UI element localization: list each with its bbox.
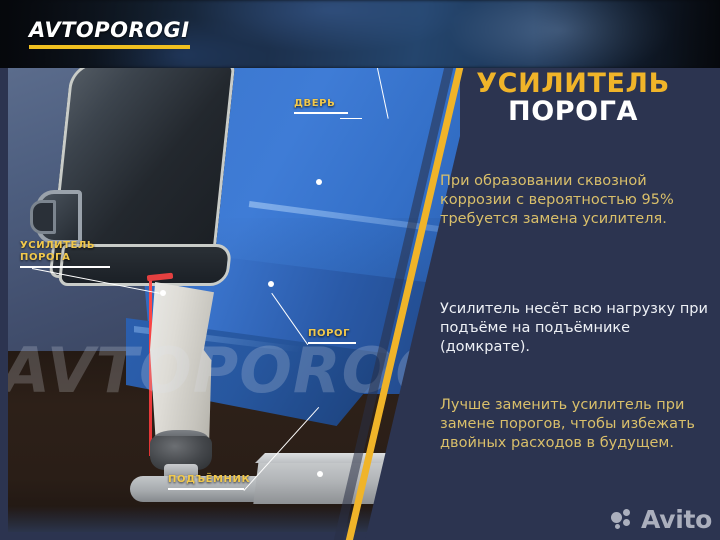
lift-beam bbox=[253, 460, 384, 504]
avito-dots-icon bbox=[611, 509, 637, 531]
callout-door-dot bbox=[316, 179, 322, 185]
callout-door: ДВЕРЬ bbox=[294, 98, 348, 114]
callout-door-leader-h bbox=[340, 118, 362, 119]
brand-logo-text: AVTOPOROGI bbox=[29, 20, 190, 41]
callout-reinforcement-label-2: ПОРОГА bbox=[20, 252, 110, 263]
page-title: УСИЛИТЕЛЬ ПОРОГА bbox=[440, 70, 706, 127]
callout-door-underline bbox=[294, 112, 348, 114]
page-title-line-2: ПОРОГА bbox=[440, 98, 706, 126]
cross-section-diagram: AVTOPOROGI ДВЕРЬ УСИЛИТЕЛЬ ПОРОГА ПОРОГ … bbox=[8, 68, 460, 532]
brand-logo[interactable]: AVTOPOROGI bbox=[29, 20, 190, 49]
paragraph-load: Усилитель несёт всю нагрузку при подъёме… bbox=[440, 300, 712, 357]
brand-logo-underline bbox=[29, 45, 190, 49]
header-bar: AVTOPOROGI bbox=[0, 0, 720, 68]
callout-sill-underline bbox=[308, 342, 356, 344]
callout-lift: ПОДЪЁМНИК bbox=[168, 474, 250, 490]
callout-door-label: ДВЕРЬ bbox=[294, 98, 348, 109]
callout-reinforcement-underline bbox=[20, 266, 110, 268]
callout-lift-label: ПОДЪЁМНИК bbox=[168, 474, 250, 485]
callout-reinforcement-dot bbox=[160, 290, 166, 296]
callout-reinforcement: УСИЛИТЕЛЬ ПОРОГА bbox=[20, 240, 110, 268]
page-title-line-1: УСИЛИТЕЛЬ bbox=[476, 68, 670, 99]
callout-reinforcement-label-1: УСИЛИТЕЛЬ bbox=[20, 240, 110, 251]
avito-logo: Avito bbox=[611, 507, 712, 532]
callout-lift-dot bbox=[317, 471, 323, 477]
headline-block: УСИЛИТЕЛЬ ПОРОГА bbox=[440, 70, 706, 127]
callout-lift-underline bbox=[168, 488, 244, 490]
callout-sill-dot bbox=[268, 281, 274, 287]
callout-sill: ПОРОГ bbox=[308, 328, 356, 344]
paragraph-advice: Лучше заменить усилитель при замене поро… bbox=[440, 396, 712, 453]
avito-wordmark: Avito bbox=[641, 507, 712, 532]
paragraph-corrosion: При образовании сквозной коррозии с веро… bbox=[440, 172, 712, 229]
door-hinge-pin bbox=[30, 200, 56, 234]
callout-sill-label: ПОРОГ bbox=[308, 328, 356, 339]
sill-reinforcement-part bbox=[150, 282, 214, 452]
poster-canvas: AVTOPOROGI ДВЕРЬ УСИЛИТЕЛЬ ПОРОГА ПОРОГ … bbox=[0, 0, 720, 540]
